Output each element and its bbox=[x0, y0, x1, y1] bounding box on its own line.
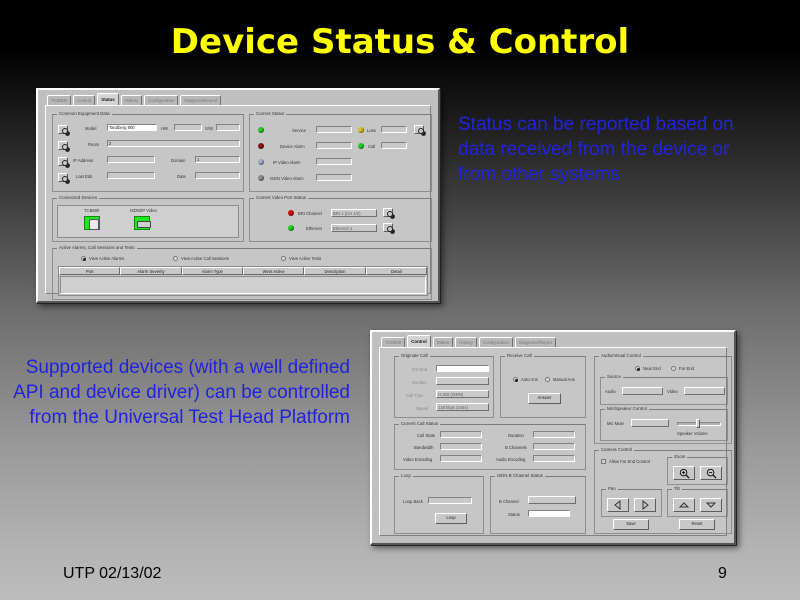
model-field[interactable]: Tandberg 800 bbox=[107, 124, 157, 131]
control-tab-status[interactable]: Status bbox=[433, 337, 453, 347]
radio-view-active-tests-label: View Active Tests bbox=[289, 256, 321, 262]
speed-label: Speed bbox=[416, 406, 428, 412]
bandwidth-label: Bandwidth bbox=[414, 445, 434, 451]
audio-encoding-field[interactable] bbox=[533, 455, 575, 462]
last-edit-label: Last Edit bbox=[76, 174, 92, 180]
connected-devices-area: TCB800 ISDN/IP Video bbox=[57, 205, 239, 238]
sw-field[interactable] bbox=[216, 124, 240, 131]
av-source-group: Source Audio Video bbox=[600, 377, 728, 405]
status-window-tabs: TCB800 Control Status History Configurat… bbox=[47, 95, 221, 105]
common-equipment-group: Common Equipment Data Model Tandberg 800… bbox=[52, 114, 244, 192]
slide: Device Status & Control TCB800 Control S… bbox=[0, 0, 800, 600]
av-source-legend: Source bbox=[605, 374, 623, 380]
call-led bbox=[358, 143, 364, 149]
video-source-select[interactable] bbox=[684, 387, 725, 395]
speaker-volume-knob[interactable] bbox=[696, 419, 700, 428]
active-alarms-table-header: Port Alarm Severity Alarm Type Went Acti… bbox=[59, 267, 427, 275]
model-label: Model bbox=[85, 126, 96, 132]
service-label: Service bbox=[292, 128, 306, 134]
loss-label: Loss bbox=[367, 128, 376, 134]
b-channels-field[interactable] bbox=[533, 443, 575, 450]
loop-legend: Loop bbox=[399, 473, 413, 479]
bandwidth-field[interactable] bbox=[440, 443, 482, 450]
pan-left-icon[interactable] bbox=[607, 498, 629, 512]
isdn-video-alarm-field[interactable] bbox=[316, 174, 352, 181]
audio-source-label: Audio bbox=[605, 389, 616, 395]
audio-encoding-label: Audio Encoding bbox=[496, 457, 525, 463]
call-state-field[interactable] bbox=[440, 431, 482, 438]
arrow-down-glyph bbox=[705, 501, 717, 509]
video-port-status-legend: Current Video Port Status bbox=[254, 195, 308, 201]
ip-address-field[interactable] bbox=[107, 156, 155, 163]
ip-video-alarm-field[interactable] bbox=[316, 158, 352, 165]
speaker-volume-label: Speaker Volume bbox=[677, 431, 708, 437]
zoom-legend: Zoom bbox=[672, 454, 687, 460]
radio-far-end-label: Far End bbox=[679, 366, 694, 372]
radio-near-end[interactable] bbox=[635, 366, 640, 371]
originate-call-group: Originate Call Far End Number Call Type … bbox=[394, 356, 494, 418]
loop-group: Loop Loop Back Loop bbox=[394, 476, 484, 534]
receive-call-legend: Receive Call bbox=[505, 353, 534, 359]
video-port-status-group: Current Video Port Status BRI Channel BR… bbox=[249, 198, 432, 242]
pan-group: Pan bbox=[601, 489, 662, 517]
mic-mute-label: Mic Mute bbox=[607, 421, 624, 427]
isdn-b-channel-legend: ISDN B Channel Status bbox=[495, 473, 545, 479]
ip-video-alarm-led bbox=[258, 159, 264, 165]
current-status-search-icon[interactable] bbox=[414, 125, 424, 134]
call-state-label: Call State bbox=[417, 433, 435, 439]
radio-view-active-alarms-label: View Active Alarms bbox=[89, 256, 124, 262]
hw-label: HW bbox=[161, 126, 168, 132]
camera-control-group: Camera Control Allow Far End Control Zoo… bbox=[594, 450, 732, 534]
hw-field[interactable] bbox=[174, 124, 202, 131]
arrow-up-glyph bbox=[678, 501, 690, 509]
status-tab-page: Common Equipment Data Model Tandberg 800… bbox=[45, 105, 431, 294]
tab-history[interactable]: History bbox=[121, 95, 143, 105]
current-call-status-group: Current Call Status Call State Duration … bbox=[394, 424, 586, 470]
tilt-down-icon[interactable] bbox=[700, 498, 722, 512]
column-went-active[interactable]: Went Active bbox=[243, 267, 304, 275]
bri-channel-led bbox=[288, 210, 294, 216]
answer-button[interactable]: Answer bbox=[528, 393, 561, 404]
device-alarm-field[interactable] bbox=[316, 142, 352, 149]
column-alarm-severity[interactable]: Alarm Severity bbox=[120, 267, 181, 275]
radio-manual-ans[interactable] bbox=[545, 377, 550, 382]
far-end-label: Far End bbox=[412, 367, 427, 373]
control-tab-history[interactable]: History bbox=[455, 337, 477, 347]
loop-button[interactable]: Loop bbox=[435, 513, 467, 524]
mic-speaker-legend: Mic/Speaker Control bbox=[605, 406, 649, 412]
mic-mute-select[interactable] bbox=[631, 419, 669, 427]
connected-device-0-label: TCB800 bbox=[84, 208, 99, 214]
control-tab-configuration[interactable]: Configuration bbox=[479, 337, 513, 347]
sw-label: S/W bbox=[205, 126, 213, 132]
ethernet-led bbox=[288, 225, 294, 231]
connected-device-1-label: ISDN/IP Video bbox=[130, 208, 157, 214]
ethernet-search-icon[interactable] bbox=[383, 223, 393, 232]
radio-manual-ans-label: Manual Ans bbox=[553, 377, 575, 383]
zoom-in-glyph bbox=[679, 468, 690, 479]
column-alarm-type[interactable]: Alarm Type bbox=[182, 267, 243, 275]
ethernet-select[interactable]: Ethernet 1 bbox=[331, 224, 377, 232]
active-alarms-table: Port Alarm Severity Alarm Type Went Acti… bbox=[58, 266, 428, 296]
av-control-group: Audio/Visual Control Near End Far End So… bbox=[594, 356, 732, 444]
active-alarms-legend: Active Alarms, Call Sessions and Tests bbox=[57, 245, 137, 251]
column-port[interactable]: Port bbox=[59, 267, 120, 275]
domain-label: Domain bbox=[171, 158, 185, 164]
loss-field[interactable] bbox=[381, 126, 407, 133]
reset-button[interactable]: Reset bbox=[679, 519, 715, 530]
tcb800-device-icon[interactable] bbox=[84, 216, 100, 230]
isdn-ip-video-device-icon[interactable] bbox=[134, 216, 150, 230]
allow-far-end-control-checkbox[interactable] bbox=[601, 459, 606, 464]
connected-devices-group: Connected Devices TCB800 ISDN/IP Video bbox=[52, 198, 244, 242]
pan-legend: Pan bbox=[606, 486, 618, 492]
receive-call-group: Receive Call Auto Ans Manual Ans Answer bbox=[500, 356, 586, 418]
control-tab-page: Originate Call Far End Number Call Type … bbox=[379, 347, 727, 536]
ethernet-label: Ethernet bbox=[306, 226, 322, 232]
radio-view-active-call-sessions-label: View Active Call Sessions bbox=[181, 256, 229, 262]
footer-left-text: UTP 02/13/02 bbox=[63, 565, 161, 583]
ip-video-alarm-label: IP Video Alarm bbox=[273, 160, 301, 166]
speed-select[interactable]: 128 kbps (2x64) bbox=[436, 403, 489, 411]
b-channel-select[interactable] bbox=[528, 496, 576, 504]
zoom-out-icon[interactable] bbox=[700, 466, 722, 480]
tilt-up-icon[interactable] bbox=[673, 498, 695, 512]
active-alarms-group: Active Alarms, Call Sessions and Tests V… bbox=[52, 248, 432, 300]
column-description[interactable]: Description bbox=[304, 267, 365, 275]
control-window-screenshot: TCB800 Control Status History Configurat… bbox=[370, 330, 736, 545]
isdn-status-label: Status bbox=[508, 512, 520, 518]
radio-view-active-call-sessions[interactable] bbox=[173, 256, 178, 261]
control-window-tabs: TCB800 Control Status History Configurat… bbox=[381, 337, 556, 347]
far-end-input[interactable] bbox=[436, 365, 489, 372]
footer-page-number: 9 bbox=[718, 565, 727, 583]
ip-address-label: IP Address bbox=[73, 158, 93, 164]
arrow-right-glyph bbox=[640, 500, 650, 510]
ip-address-search-icon[interactable] bbox=[58, 157, 68, 166]
radio-view-active-tests[interactable] bbox=[281, 256, 286, 261]
loss-led bbox=[358, 127, 364, 133]
video-source-label: Video bbox=[667, 389, 678, 395]
bri-channel-select[interactable]: BRI 1 (CH 1/2) bbox=[331, 209, 377, 217]
status-description-text: Status can be reported based on data rec… bbox=[458, 112, 758, 187]
b-channels-label: B Channels bbox=[505, 445, 527, 451]
tab-configuration[interactable]: Configuration bbox=[144, 95, 178, 105]
radio-near-end-label: Near End bbox=[643, 366, 661, 372]
call-type-select[interactable]: H.320 (ISDN) bbox=[436, 390, 489, 398]
zoom-out-glyph bbox=[706, 468, 717, 479]
status-window-screenshot: TCB800 Control Status History Configurat… bbox=[36, 88, 440, 303]
video-encoding-field[interactable] bbox=[440, 455, 482, 462]
room-field[interactable]: 2 bbox=[107, 140, 240, 147]
av-control-legend: Audio/Visual Control bbox=[599, 353, 643, 359]
camera-control-legend: Camera Control bbox=[599, 447, 634, 453]
control-tab-diagnose-report[interactable]: Diagnose/Report bbox=[515, 337, 556, 347]
control-window-body: TCB800 Control Status History Configurat… bbox=[375, 335, 731, 540]
isdn-status-field[interactable] bbox=[528, 510, 570, 517]
status-window-body: TCB800 Control Status History Configurat… bbox=[41, 93, 435, 298]
call-type-label: Call Type bbox=[406, 393, 423, 399]
current-call-status-legend: Current Call Status bbox=[399, 421, 440, 427]
control-tab-control[interactable]: Control bbox=[407, 335, 431, 347]
active-alarms-table-body[interactable] bbox=[60, 276, 426, 294]
number-select[interactable] bbox=[436, 377, 489, 385]
room-search-icon[interactable] bbox=[58, 141, 68, 150]
tilt-group: Tilt bbox=[667, 489, 728, 517]
b-channel-label: B Channel bbox=[499, 499, 519, 505]
call-field[interactable] bbox=[381, 142, 407, 149]
device-alarm-led bbox=[258, 143, 264, 149]
connected-devices-legend: Connected Devices bbox=[57, 195, 99, 201]
duration-label: Duration bbox=[508, 433, 524, 439]
control-description-text: Supported devices (with a well defined A… bbox=[10, 355, 350, 430]
tab-tcb800[interactable]: TCB800 bbox=[47, 95, 71, 105]
radio-far-end[interactable] bbox=[671, 366, 676, 371]
service-led bbox=[258, 127, 264, 133]
radio-view-active-alarms[interactable] bbox=[81, 256, 86, 261]
mic-speaker-group: Mic/Speaker Control Mic Mute Speaker Vol… bbox=[600, 409, 728, 441]
date-field[interactable] bbox=[195, 172, 240, 179]
tab-status[interactable]: Status bbox=[97, 93, 118, 105]
audio-source-select[interactable] bbox=[622, 387, 663, 395]
page-title: Device Status & Control bbox=[0, 22, 800, 62]
device-alarm-label: Device Alarm bbox=[280, 144, 305, 150]
bri-channel-search-icon[interactable] bbox=[383, 208, 393, 217]
service-field[interactable] bbox=[316, 126, 352, 133]
arrow-left-glyph bbox=[613, 500, 623, 510]
last-edit-field[interactable] bbox=[107, 172, 155, 179]
radio-auto-ans[interactable] bbox=[513, 377, 518, 382]
save-button[interactable]: Save bbox=[613, 519, 649, 530]
video-encoding-label: Video Encoding bbox=[403, 457, 432, 463]
common-equipment-legend: Common Equipment Data bbox=[57, 111, 112, 117]
current-status-legend: Current Status bbox=[254, 111, 286, 117]
radio-auto-ans-label: Auto Ans bbox=[521, 377, 538, 383]
current-status-group: Current Status Service Device Alarm IP V… bbox=[249, 114, 432, 192]
loop-back-label: Loop Back bbox=[403, 499, 423, 505]
tab-control[interactable]: Control bbox=[73, 95, 95, 105]
allow-far-end-control-label: Allow Far End Control bbox=[609, 459, 650, 465]
last-edit-search-icon[interactable] bbox=[58, 173, 68, 182]
isdn-b-channel-group: ISDN B Channel Status B Channel Status bbox=[490, 476, 586, 534]
isdn-video-alarm-label: ISDN Video Alarm bbox=[270, 176, 304, 182]
room-label: Room bbox=[88, 142, 99, 148]
isdn-video-alarm-led bbox=[258, 175, 264, 181]
call-label: Call bbox=[368, 144, 375, 150]
originate-call-legend: Originate Call bbox=[399, 353, 430, 359]
bri-channel-label: BRI Channel bbox=[298, 211, 322, 217]
zoom-in-icon[interactable] bbox=[673, 466, 695, 480]
pan-right-icon[interactable] bbox=[634, 498, 656, 512]
column-detail[interactable]: Detail bbox=[366, 267, 427, 275]
duration-field[interactable] bbox=[533, 431, 575, 438]
zoom-group: Zoom bbox=[667, 457, 728, 485]
model-search-icon[interactable] bbox=[58, 125, 68, 134]
tab-diagnose-report[interactable]: Diagnose/Report bbox=[180, 95, 221, 105]
loop-back-field[interactable] bbox=[428, 497, 472, 504]
control-tab-tcb800[interactable]: TCB800 bbox=[381, 337, 405, 347]
date-label: Date bbox=[177, 174, 186, 180]
domain-field[interactable]: 1 bbox=[195, 156, 240, 163]
number-label: Number bbox=[412, 380, 427, 386]
tilt-legend: Tilt bbox=[672, 486, 682, 492]
